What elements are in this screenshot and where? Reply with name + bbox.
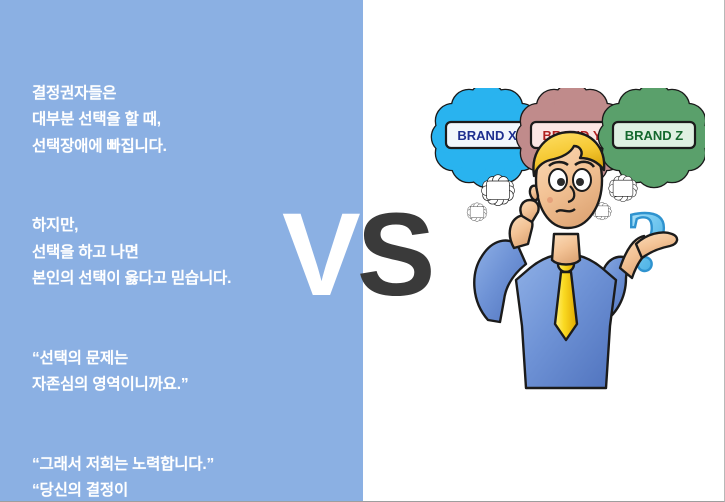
character-left-pupil: [557, 178, 565, 186]
character-neck: [552, 234, 580, 265]
versus-v-letter: V: [282, 189, 357, 321]
character-right-pupil: [576, 178, 584, 186]
copy-paragraph-1: 결정권자들은 대부분 선택을 할 때, 선택장애에 빠집니다.: [32, 81, 332, 161]
brand-x-label: BRAND X: [457, 128, 517, 143]
copy-paragraph-3: “선택의 문제는 자존심의 영역이니까요.”: [32, 346, 332, 399]
versus-s-letter: S: [357, 189, 432, 321]
versus-label: VS: [282, 196, 431, 314]
illustration-confused-man: BRAND X BRAND Y BRAND Z: [430, 88, 705, 408]
character-cheek: [547, 197, 553, 203]
brand-z-label: BRAND Z: [625, 128, 684, 143]
character-ear: [530, 186, 538, 200]
slide-canvas: 결정권자들은 대부분 선택을 할 때, 선택장애에 빠집니다. 하지만, 선택을…: [0, 0, 725, 502]
copy-paragraph-4: “그래서 저희는 노력합니다.” “당신의 결정이 얼마나 옳은 선택이었는지 …: [32, 452, 332, 502]
thought-bubble-brand-z: BRAND Z: [599, 88, 705, 187]
